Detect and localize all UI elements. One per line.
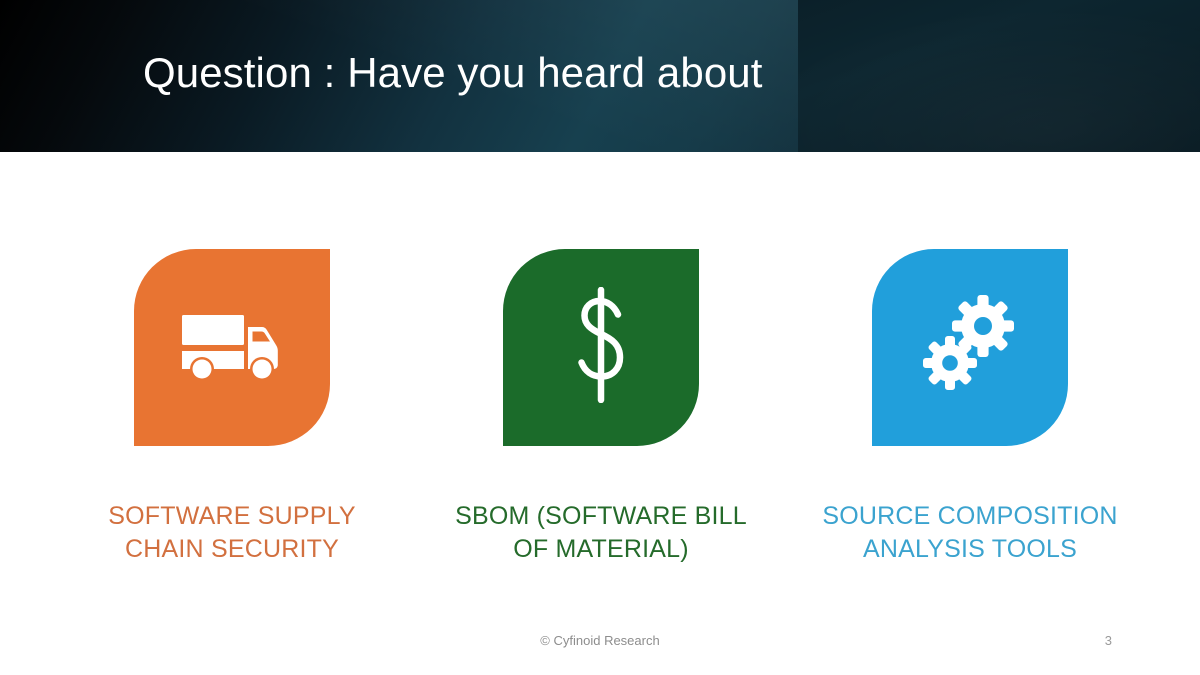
concept-caption-row: SOFTWARE SUPPLY CHAIN SECURITY SBOM (SOF… bbox=[0, 500, 1200, 580]
footer-credit: © Cyfinoid Research bbox=[0, 632, 1200, 650]
caption-line-1: SOFTWARE SUPPLY bbox=[82, 500, 382, 533]
delivery-truck-icon bbox=[178, 305, 286, 390]
page-title: Question : Have you heard about bbox=[143, 44, 763, 102]
caption-sbom: SBOM (SOFTWARE BILL OF MATERIAL) bbox=[451, 500, 751, 566]
caption-line-2: OF MATERIAL) bbox=[451, 533, 751, 566]
concept-card-row bbox=[0, 249, 1200, 447]
caption-line-2: CHAIN SECURITY bbox=[82, 533, 382, 566]
caption-line-1: SBOM (SOFTWARE BILL bbox=[451, 500, 751, 533]
gears-icon bbox=[915, 294, 1025, 401]
caption-line-2: ANALYSIS TOOLS bbox=[820, 533, 1120, 566]
concept-card-source-composition-analysis-tools[interactable] bbox=[872, 249, 1068, 446]
caption-source-composition-analysis-tools: SOURCE COMPOSITION ANALYSIS TOOLS bbox=[820, 500, 1120, 566]
caption-line-1: SOURCE COMPOSITION bbox=[820, 500, 1120, 533]
page-number: 3 bbox=[1105, 632, 1112, 650]
concept-card-sbom[interactable] bbox=[503, 249, 699, 446]
caption-software-supply-chain-security: SOFTWARE SUPPLY CHAIN SECURITY bbox=[82, 500, 382, 566]
dollar-sign-icon bbox=[566, 287, 636, 408]
slide: Question : Have you heard about bbox=[0, 0, 1200, 675]
header-gradient-right bbox=[798, 0, 1200, 152]
concept-card-software-supply-chain-security[interactable] bbox=[134, 249, 330, 446]
